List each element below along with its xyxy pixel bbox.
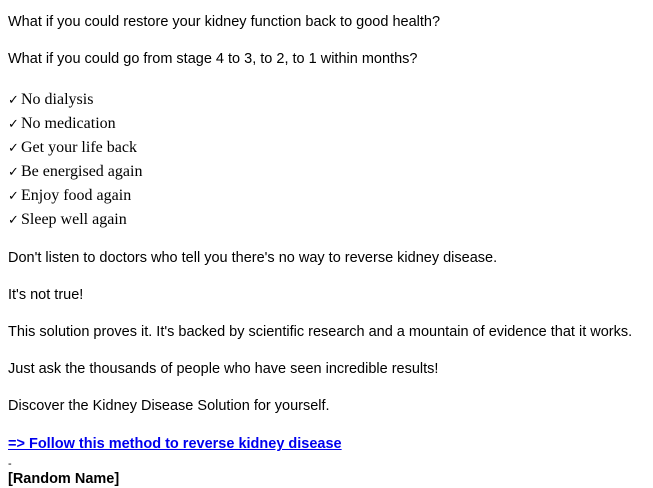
list-item: ✓No medication <box>8 112 645 136</box>
body-paragraph-1: Don't listen to doctors who tell you the… <box>8 250 645 267</box>
body-paragraph-5: Discover the Kidney Disease Solution for… <box>8 398 645 415</box>
check-icon: ✓ <box>8 137 21 160</box>
body-paragraph-2: It's not true! <box>8 287 645 304</box>
check-icon: ✓ <box>8 161 21 184</box>
check-icon: ✓ <box>8 209 21 232</box>
email-message-body: What if you could restore your kidney fu… <box>0 0 653 488</box>
benefit-label: No dialysis <box>21 91 93 108</box>
list-item: ✓Get your life back <box>8 136 645 160</box>
signature-divider: - <box>8 459 645 469</box>
check-icon: ✓ <box>8 89 21 112</box>
body-paragraph-3: This solution proves it. It's backed by … <box>8 324 645 341</box>
check-icon: ✓ <box>8 185 21 208</box>
benefit-label: No medication <box>21 115 116 132</box>
check-icon: ✓ <box>8 113 21 136</box>
intro-paragraph-1: What if you could restore your kidney fu… <box>8 14 645 31</box>
cta-link[interactable]: => Follow this method to reverse kidney … <box>8 435 342 453</box>
benefits-list: ✓No dialysis ✓No medication ✓Get your li… <box>8 88 645 232</box>
benefit-label: Enjoy food again <box>21 187 131 204</box>
list-item: ✓No dialysis <box>8 88 645 112</box>
body-paragraph-4: Just ask the thousands of people who hav… <box>8 361 645 378</box>
intro-paragraph-2: What if you could go from stage 4 to 3, … <box>8 51 645 68</box>
cta-row: => Follow this method to reverse kidney … <box>8 435 645 453</box>
list-item: ✓Sleep well again <box>8 208 645 232</box>
signature-name: [Random Name] <box>8 471 645 488</box>
benefit-label: Be energised again <box>21 163 142 180</box>
list-item: ✓Enjoy food again <box>8 184 645 208</box>
benefit-label: Sleep well again <box>21 211 127 228</box>
list-item: ✓Be energised again <box>8 160 645 184</box>
benefit-label: Get your life back <box>21 139 137 156</box>
